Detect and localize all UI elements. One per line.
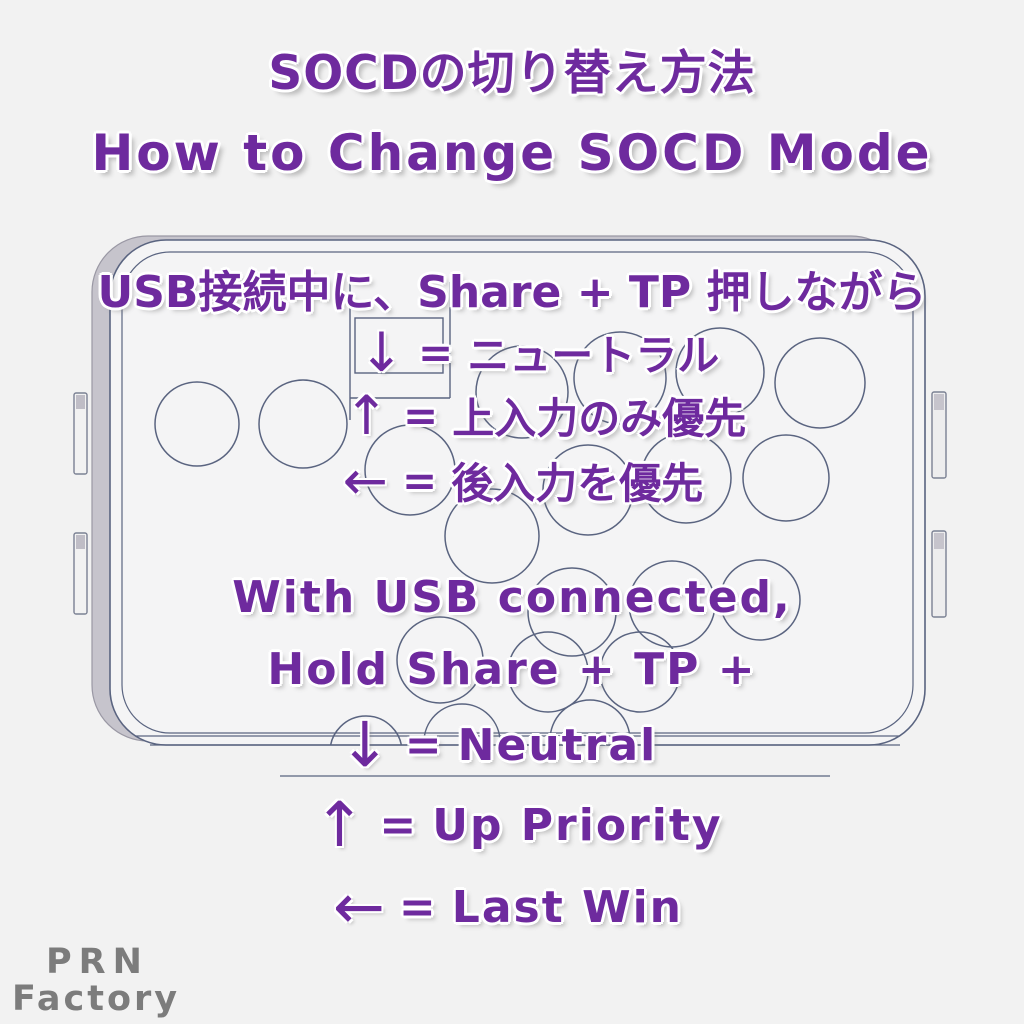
equals-sign: = — [402, 456, 437, 505]
left-arrow-icon: ← — [343, 454, 388, 508]
up-arrow-icon: ↑ — [313, 794, 365, 856]
down-arrow-icon: ↓ — [359, 326, 404, 380]
japanese-mode-row-up-priority: ↑ = 上入力のみ優先 — [33, 385, 1024, 446]
english-mode-row-up-priority: ↑ = Up Priority — [6, 794, 1024, 856]
brand-logo: PRN Factory — [12, 944, 180, 1018]
brand-logo-line1: PRN — [12, 944, 180, 981]
brand-logo-line2: Factory — [12, 981, 180, 1018]
left-arrow-icon: ← — [333, 876, 385, 938]
page-title-english: How to Change SOCD Mode — [0, 124, 1024, 182]
equals-sign: = — [418, 328, 453, 377]
english-mode-label-last-win: Last Win — [452, 882, 683, 933]
japanese-mode-label-last-win: 後入力を優先 — [451, 450, 703, 511]
page-title-japanese: SOCDの切り替え方法 — [0, 34, 1024, 103]
japanese-mode-label-neutral: ニュートラル — [467, 322, 719, 383]
down-arrow-icon: ↓ — [339, 714, 391, 776]
english-mode-label-up-priority: Up Priority — [432, 800, 722, 851]
equals-sign: = — [379, 800, 418, 851]
japanese-mode-label-up-priority: 上入力のみ優先 — [452, 385, 746, 446]
equals-sign: = — [399, 882, 438, 933]
english-mode-row-last-win: ← = Last Win — [0, 876, 1020, 938]
english-instruction-heading-line2: Hold Share + TP + — [0, 644, 1024, 695]
english-mode-row-neutral: ↓ = Neutral — [0, 714, 1010, 776]
equals-sign: = — [405, 720, 444, 771]
japanese-instruction-heading: USB接続中に、Share + TP 押しながら — [0, 256, 1024, 320]
english-mode-label-neutral: Neutral — [458, 720, 658, 771]
japanese-mode-row-last-win: ← = 後入力を優先 — [11, 450, 1024, 511]
equals-sign: = — [403, 391, 438, 440]
english-instruction-heading-line1: With USB connected, — [0, 572, 1024, 623]
japanese-mode-row-neutral: ↓ = ニュートラル — [27, 322, 1024, 383]
up-arrow-icon: ↑ — [344, 389, 389, 443]
